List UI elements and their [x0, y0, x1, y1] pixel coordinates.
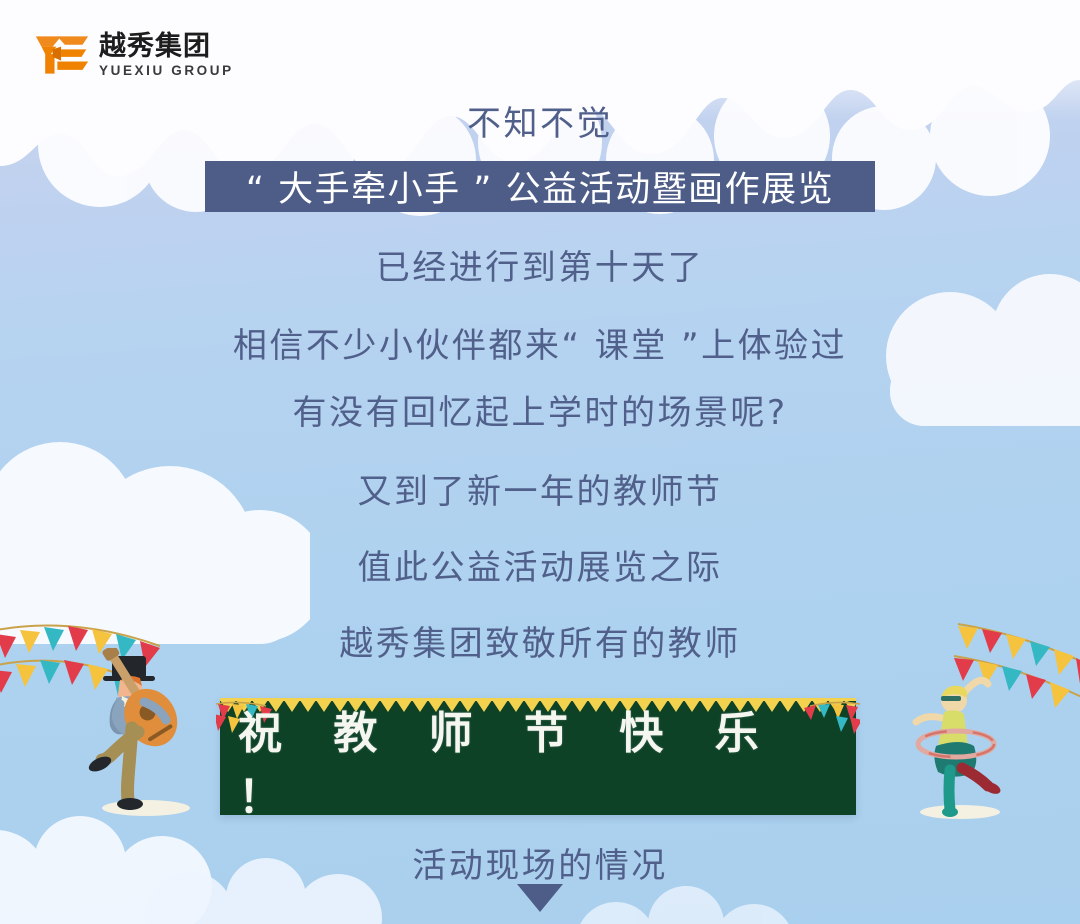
copy-line-4: 相信不少小伙伴都来“ 课堂 ”上体验过 — [0, 318, 1080, 367]
down-triangle-arrow-icon[interactable] — [517, 884, 563, 912]
blackboard-message: 祝 教 师 节 快 乐 ！ — [220, 698, 856, 815]
headline-banner: “ 大手牵小手 ” 公益活动暨画作展览 — [205, 161, 875, 212]
copy-line-3: 已经进行到第十天了 — [0, 240, 1080, 289]
yuexiu-ye-monogram-icon — [34, 32, 90, 78]
copy-line-5: 有没有回忆起上学时的场景呢? — [0, 385, 1080, 434]
headline-banner-text: “ 大手牵小手 ” 公益活动暨画作展览 — [246, 161, 834, 212]
blackboard: 祝 教 师 节 快 乐 ！ — [220, 698, 856, 815]
copy-line-7: 值此公益活动展览之际 — [0, 540, 1080, 589]
copy-line-1: 不知不觉 — [0, 96, 1080, 145]
copy-line-10: 活动现场的情况 — [0, 838, 1080, 887]
hula-hoop-dancer-illustration — [896, 662, 1026, 822]
brand-logo[interactable]: 越秀集团 YUEXIU GROUP — [34, 32, 234, 78]
copy-line-6: 又到了新一年的教师节 — [0, 464, 1080, 513]
guitarist-with-top-hat-illustration — [76, 648, 216, 818]
brand-name-en: YUEXIU GROUP — [99, 64, 234, 78]
brand-wordmark: 越秀集团 YUEXIU GROUP — [99, 33, 234, 78]
poster-canvas: 越秀集团 YUEXIU GROUP 不知不觉 已经进行到第十天了 相信不少小伙伴… — [0, 0, 1080, 924]
brand-name-cn: 越秀集团 — [99, 33, 234, 60]
